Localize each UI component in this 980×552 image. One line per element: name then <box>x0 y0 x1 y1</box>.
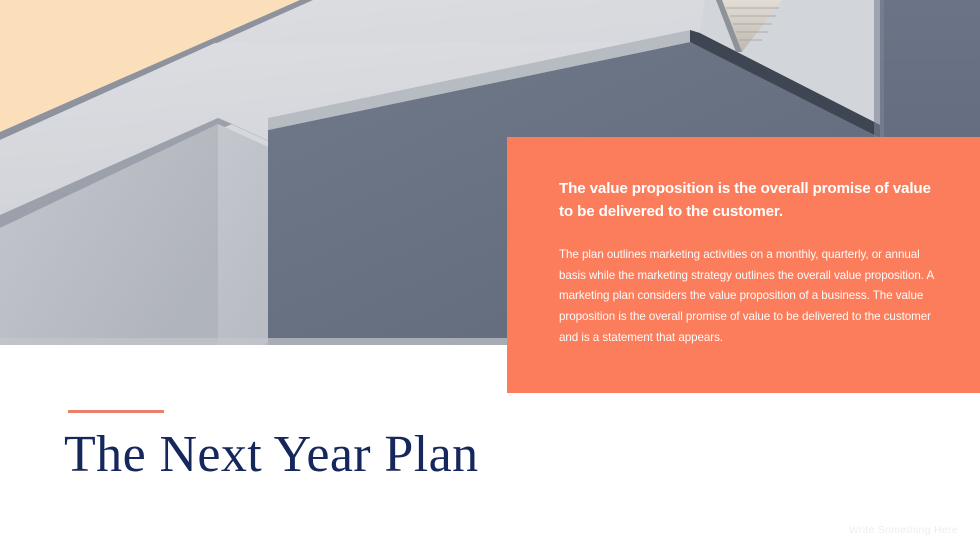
presentation-slide: The value proposition is the overall pro… <box>0 0 980 552</box>
footer-note: Write Something Here <box>849 524 958 536</box>
value-proposition-panel: The value proposition is the overall pro… <box>507 137 980 393</box>
panel-heading: The value proposition is the overall pro… <box>559 177 934 223</box>
panel-body-text: The plan outlines marketing activities o… <box>559 245 934 348</box>
page-title: The Next Year Plan <box>64 426 478 483</box>
title-accent-rule <box>68 410 164 413</box>
